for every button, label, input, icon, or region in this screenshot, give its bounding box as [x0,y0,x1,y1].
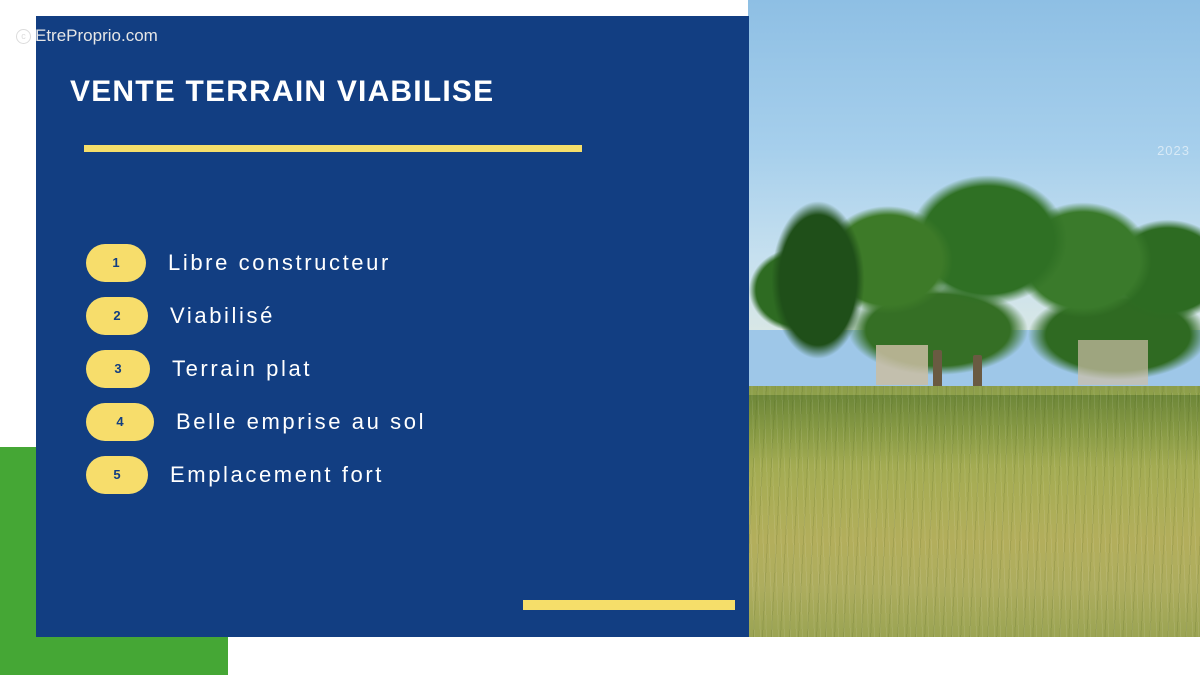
background-house-2 [1078,340,1148,385]
copyright-icon: c [16,29,31,44]
list-item: 4 Belle emprise au sol [86,395,726,448]
terrain-photo: 2023 [748,0,1200,637]
title-underline-rule [84,145,582,152]
white-left-strip [0,0,36,447]
white-bottom-right-strip [473,637,1200,675]
bottom-accent-rule [523,600,735,610]
feature-list: 1 Libre constructeur 2 Viabilisé 3 Terra… [86,236,726,501]
page-title: VENTE TERRAIN VIABILISE [70,75,494,109]
bullet-number-badge: 2 [86,297,148,335]
bullet-label: Libre constructeur [168,250,391,276]
list-item: 2 Viabilisé [86,289,726,342]
list-item: 3 Terrain plat [86,342,726,395]
content-panel: VENTE TERRAIN VIABILISE 1 Libre construc… [36,16,749,637]
watermark: c EtreProprio.com [16,26,158,46]
list-item: 1 Libre constructeur [86,236,726,289]
bullet-number-badge: 4 [86,403,154,441]
photo-datestamp: 2023 [1157,143,1190,158]
tree-left-dark [758,175,878,415]
bullet-label: Viabilisé [170,303,275,329]
background-house [876,345,928,385]
bullet-label: Emplacement fort [170,462,384,488]
bullet-number-badge: 1 [86,244,146,282]
bullet-label: Belle emprise au sol [176,409,426,435]
white-bottom-strip [228,637,473,675]
bullet-label: Terrain plat [172,356,312,382]
bullet-number-badge: 5 [86,456,148,494]
slide-canvas: 2023 VENTE TERRAIN VIABILISE 1 Libre con… [0,0,1200,675]
list-item: 5 Emplacement fort [86,448,726,501]
grass-texture [748,386,1200,637]
bullet-number-badge: 3 [86,350,150,388]
watermark-text: EtreProprio.com [35,26,158,46]
